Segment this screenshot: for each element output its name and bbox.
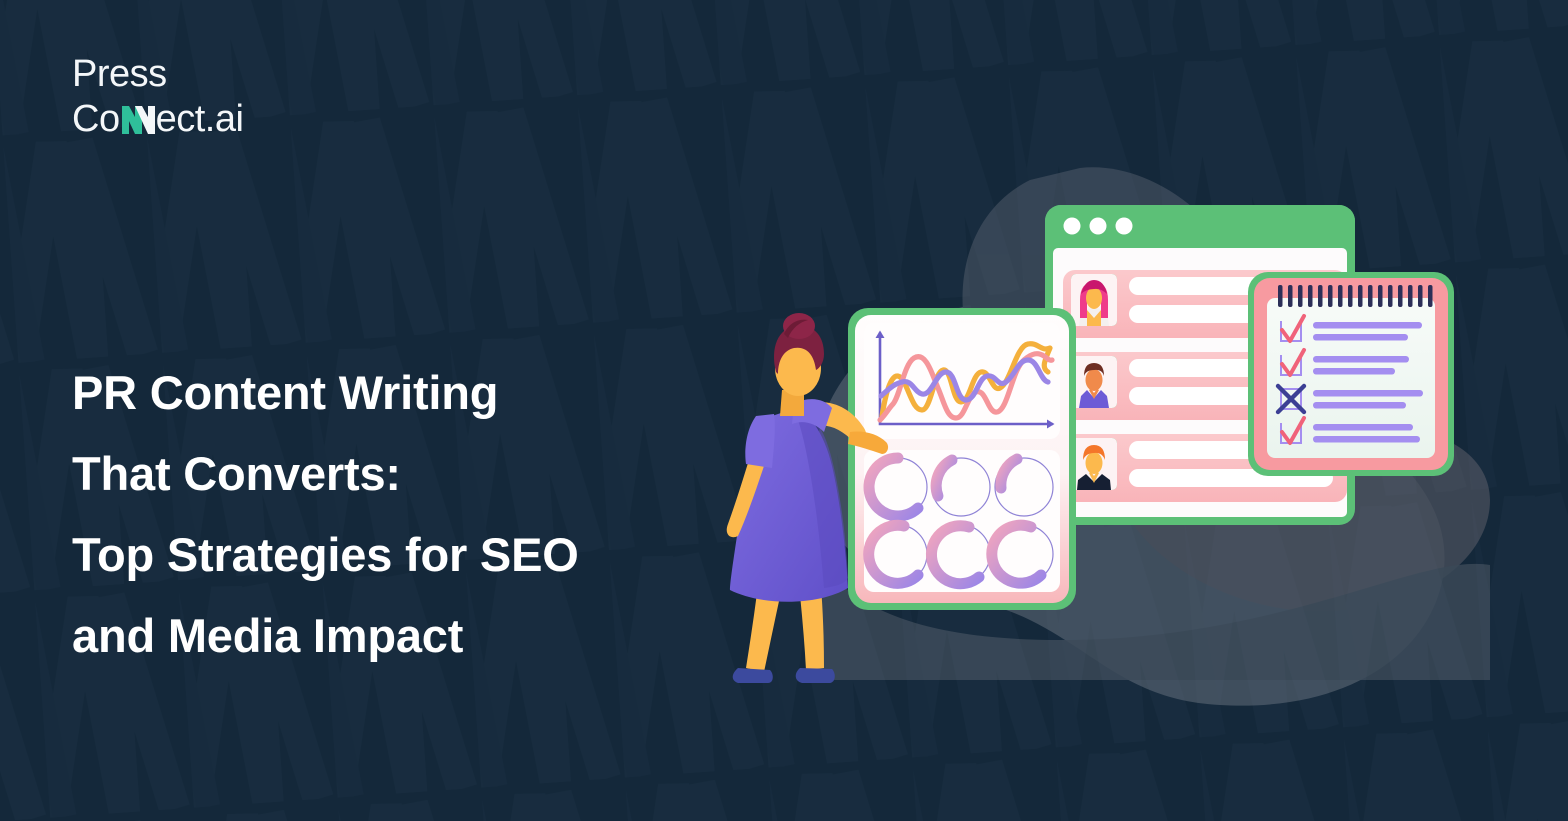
checklist-line [1313, 402, 1406, 409]
logo-nn-monogram-icon [120, 93, 156, 131]
checklist-line [1313, 424, 1413, 431]
avatar-orange-hair-person [1071, 438, 1117, 490]
checklist-line [1313, 356, 1409, 363]
window-dot-1-icon[interactable] [1064, 218, 1081, 235]
logo-line-press: Press [72, 55, 243, 95]
avatar-brown-hair-person [1071, 356, 1117, 408]
avatar-pink-hair-woman [1071, 274, 1117, 326]
headline-line-3: Top Strategies for SEO [72, 514, 772, 595]
checklist-line [1313, 390, 1423, 397]
logo-line-connect: Co ect.ai [72, 93, 243, 140]
checklist-line [1313, 436, 1420, 443]
checklist-line [1313, 368, 1395, 375]
page-title: PR Content Writing That Converts: Top St… [72, 352, 772, 676]
checklist-notepad-card[interactable] [1248, 272, 1454, 476]
headline-line-2: That Converts: [72, 433, 772, 514]
shoe-front [796, 668, 835, 683]
logo-suffix: ect.ai [156, 98, 244, 140]
line-chart-card[interactable] [848, 308, 1076, 610]
headline-line-4: and Media Impact [72, 595, 772, 676]
brand-logo[interactable]: Press Co ect.ai [72, 55, 243, 139]
logo-prefix: Co [72, 98, 120, 140]
checklist-line [1313, 334, 1408, 341]
analytics-dashboard-illustration [700, 120, 1500, 740]
shoe-back [733, 668, 773, 683]
checklist-line [1313, 322, 1422, 329]
headline-line-1: PR Content Writing [72, 352, 772, 433]
window-dot-2-icon[interactable] [1090, 218, 1107, 235]
sleeve-back [745, 414, 775, 468]
window-dot-3-icon[interactable] [1116, 218, 1133, 235]
